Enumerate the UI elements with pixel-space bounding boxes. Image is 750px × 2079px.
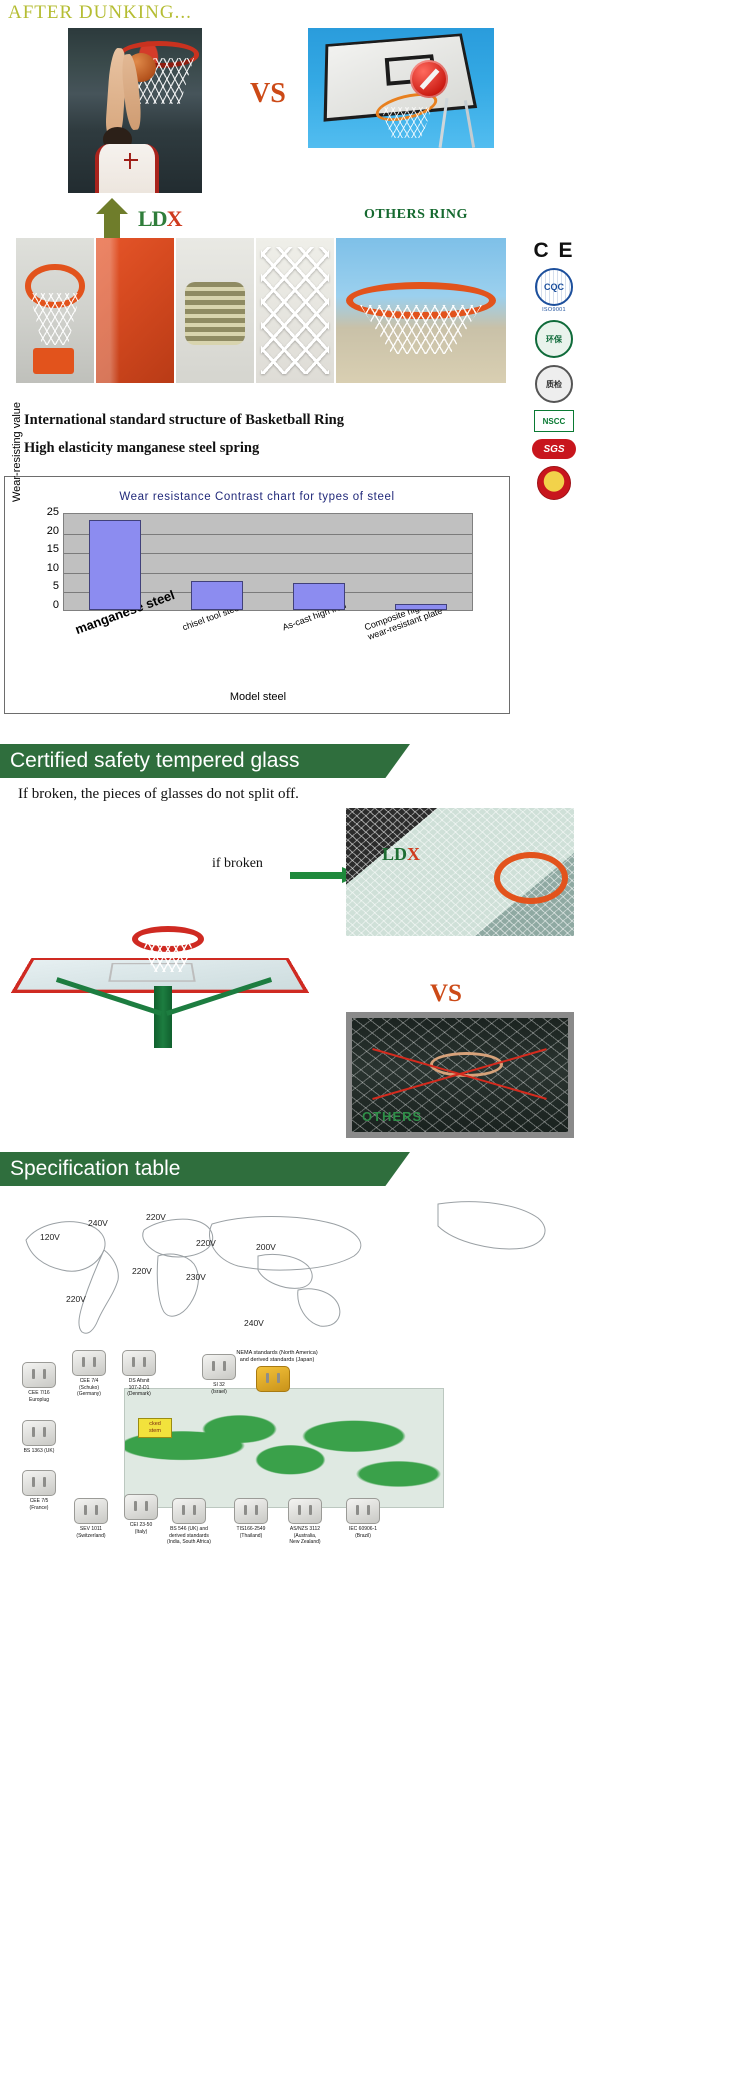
plug-caption: CEE 7/4(Schuko)(Germany) [62,1378,116,1398]
nscc-mark-icon: NSCC [531,410,577,432]
voltage-label: 220V [132,1266,152,1276]
chart-x-tick-labels: manganese steelchisel tool steelAs-cast … [63,617,473,687]
world-voltage-map: 120V240V220V220V200V220V230V220V240V [8,1194,568,1344]
plug-icon [256,1366,290,1392]
plug-ds-afsnit-107-2-d1: DS Afsnit107-2-D1(Denmark) [112,1350,166,1398]
voltage-label: 200V [256,1242,276,1252]
if-broken-label: if broken [212,856,263,872]
plug-caption: BS 1363 (UK) [12,1448,66,1455]
chart-y-ticks: 25 20 15 10 5 0 [37,506,59,611]
plug-caption: DS Afsnit107-2-D1(Denmark) [112,1378,166,1398]
brand-logo-text: LD [138,206,167,231]
spring-photo [176,238,254,383]
glass-logo-text: LD [382,844,407,864]
chart-title: Wear resistance Contrast chart for types… [5,491,509,503]
plug-iec-60906-1-brazil: IEC 60906-1(Brazil) [336,1498,390,1539]
glass-photo-rim [494,852,568,904]
broken-glass-photo: LDX [346,808,574,936]
green-environment-mark-icon: 环保 [531,320,577,358]
plug-as-nzs-3112: AS/NZS 3112(Australia,New Zealand) [278,1498,332,1546]
dunk-photo [68,28,202,193]
voltage-label: 240V [244,1318,264,1328]
y-tick: 0 [37,599,59,611]
plug-icon [122,1350,156,1376]
others-ring-label: OTHERS RING [364,207,468,223]
damaged-net-shape [381,107,433,138]
voltage-label: 230V [186,1272,206,1282]
plug-tis-166-2549-thai: TIS166-2549(Thailand) [224,1498,278,1539]
plug-caption: SEV 1011(Switzerland) [64,1526,118,1539]
plug-icon [22,1470,56,1496]
brand-logo: LDX [138,206,181,232]
glass-logo-accent: X [407,844,420,864]
plug-cee-7-5-france: CEE 7/5(France) [12,1470,66,1511]
plug-nema-plug [246,1366,300,1394]
structure-caption-2: High elasticity manganese steel spring [24,440,259,457]
voltage-label: 220V [66,1294,86,1304]
plug-sev-1011-swiss: SEV 1011(Switzerland) [64,1498,118,1539]
plug-icon [74,1498,108,1524]
plug-caption: CEE 7/16Europlug [12,1390,66,1403]
certification-logos: C E CQC ISO9001 环保 质检 NSCC SGS [524,240,584,507]
wear-resistance-chart: Wear resistance Contrast chart for types… [4,476,510,714]
plug-icon [22,1420,56,1446]
ring-full-photo [16,238,94,383]
plug-types-panel: ckedstem NEMA standards (North America)a… [6,1348,586,1548]
plug-region-map [124,1388,444,1508]
after-dunking-section: AFTER DUNKING... VS LDX OTHERS RING [0,0,750,240]
ring-outdoor-photo [336,238,506,383]
chart-bar [89,520,141,610]
plug-header-label: NEMA standards (North America)and derive… [234,1350,320,1364]
plug-icon [288,1498,322,1524]
plug-caption: TIS166-2549(Thailand) [224,1526,278,1539]
y-tick: 20 [37,525,59,537]
world-map-outline [8,1194,568,1344]
y-tick: 5 [37,580,59,592]
sgs-mark-icon: SGS [531,439,577,459]
brand-logo-accent: X [167,206,182,231]
structure-photo-strip [16,238,506,383]
plug-icon [234,1498,268,1524]
vs-label-top: VS [250,78,286,110]
vs-label-bottom: VS [430,980,462,1008]
chart-bar [395,604,447,610]
chart-plot-wrapper: Wear-resisting value 25 20 15 10 5 0 man… [63,513,473,618]
plug-caption: CEE 7/5(France) [12,1498,66,1511]
y-tick: 10 [37,562,59,574]
plug-bs-546-uk: BS 546 (UK) andderived standards(India, … [162,1498,216,1546]
voltage-label: 220V [146,1212,166,1222]
glass-brand-logo: LDX [382,844,420,865]
chart-bar [191,581,243,610]
chart-plot-area [63,513,473,611]
voltage-label: 220V [196,1238,216,1248]
plug-caption: SI 32(Israel) [192,1382,246,1395]
plug-caption: CEI 23-50(Italy) [114,1522,168,1535]
plug-bs-1363-uk: BS 1363 (UK) [12,1420,66,1455]
plug-icon [22,1362,56,1388]
quality-inspection-mark-icon: 质检 [531,365,577,403]
player-jersey [95,144,159,194]
others-ring-photo [308,28,494,148]
others-photo-label: OTHERS [362,1109,422,1124]
plug-caption: IEC 60906-1(Brazil) [336,1526,390,1539]
glass-backboard-illustration [14,890,334,1050]
chart-bar [293,583,345,610]
glass-note-text: If broken, the pieces of glasses do not … [18,786,299,803]
plug-cee-7-16-europlug: CEE 7/16Europlug [12,1362,66,1403]
plug-icon [202,1354,236,1380]
gold-seal-mark-icon [531,466,577,500]
others-shattered-photo: OTHERS [346,1012,574,1138]
voltage-label: 240V [88,1218,108,1228]
ring-detail-photo [96,238,174,383]
plug-icon [172,1498,206,1524]
plug-icon [124,1494,158,1520]
plug-si-32-israel: SI 32(Israel) [192,1354,246,1395]
map-note-badge: ckedstem [138,1418,172,1438]
structure-caption-1: International standard structure of Bask… [24,412,344,429]
voltage-label: 120V [40,1232,60,1242]
specification-table-banner: Specification table [0,1152,410,1186]
plug-caption: BS 546 (UK) andderived standards(India, … [162,1526,216,1546]
chart-y-axis-label: Wear-resisting value [11,397,23,507]
chart-x-axis-label: Model steel [5,691,511,703]
cqc-mark-icon: CQC ISO9001 [531,268,577,313]
plug-icon [72,1350,106,1376]
y-tick: 15 [37,543,59,555]
green-pole-shape [154,986,172,1048]
ce-mark-icon: C E [531,240,577,261]
y-tick: 25 [37,506,59,518]
plug-cei-23-50-italy: CEI 23-50(Italy) [114,1494,168,1535]
net-closeup-photo [256,238,334,383]
page-title: AFTER DUNKING... [8,2,192,24]
plug-icon [346,1498,380,1524]
tempered-glass-banner: Certified safety tempered glass [0,744,410,778]
plug-cee-7-4-schuko: CEE 7/4(Schuko)(Germany) [62,1350,116,1398]
plug-caption: AS/NZS 3112(Australia,New Zealand) [278,1526,332,1546]
